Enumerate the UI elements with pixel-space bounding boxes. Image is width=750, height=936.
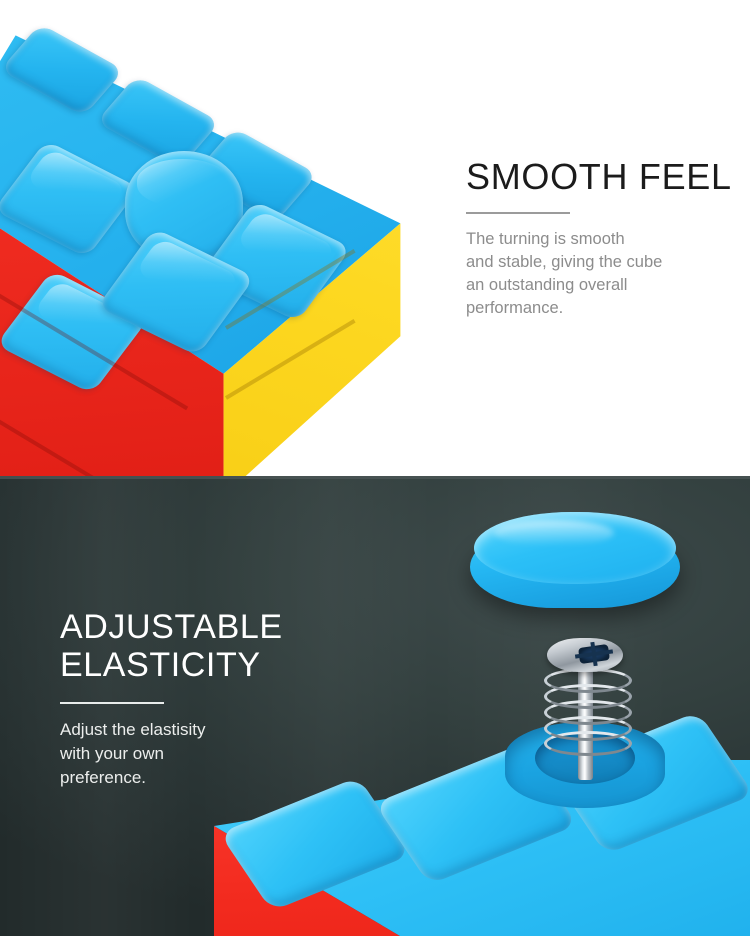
product-feature-page: SMOOTH FEEL The turning is smooth and st… [0, 0, 750, 936]
panel-top-edge-line [0, 476, 750, 479]
heading-rule [466, 212, 570, 214]
panel-body-text: The turning is smooth and stable, giving… [466, 228, 716, 320]
smooth-feel-text-block: SMOOTH FEEL The turning is smooth and st… [466, 158, 716, 320]
phillips-screw-with-spring [537, 638, 633, 780]
heading-line: ELASTICITY [60, 646, 360, 684]
phillips-cross-slot [578, 644, 610, 664]
heading-rule [60, 702, 164, 704]
body-line: with your own [60, 742, 360, 766]
body-line: performance. [466, 297, 716, 320]
panel-heading: SMOOTH FEEL [466, 158, 716, 196]
panel-heading: ADJUSTABLE ELASTICITY [60, 608, 360, 684]
heading-line: ADJUSTABLE [60, 608, 360, 646]
body-line: Adjust the elastisity [60, 718, 360, 742]
center-cap [470, 512, 680, 616]
tile-gloss [137, 159, 229, 207]
body-line: and stable, giving the cube [466, 251, 716, 274]
panel-body-text: Adjust the elastisity with your own pref… [60, 718, 360, 790]
panel-smooth-feel: SMOOTH FEEL The turning is smooth and st… [0, 0, 750, 476]
body-line: The turning is smooth [466, 228, 716, 251]
adjustable-elasticity-text-block: ADJUSTABLE ELASTICITY Adjust the elastis… [60, 608, 360, 790]
body-line: preference. [60, 766, 360, 790]
center-cap-highlight [494, 520, 614, 546]
cube-corner-closeup-image [0, 26, 442, 476]
screw-head [547, 638, 623, 672]
body-line: an outstanding overall [466, 274, 716, 297]
